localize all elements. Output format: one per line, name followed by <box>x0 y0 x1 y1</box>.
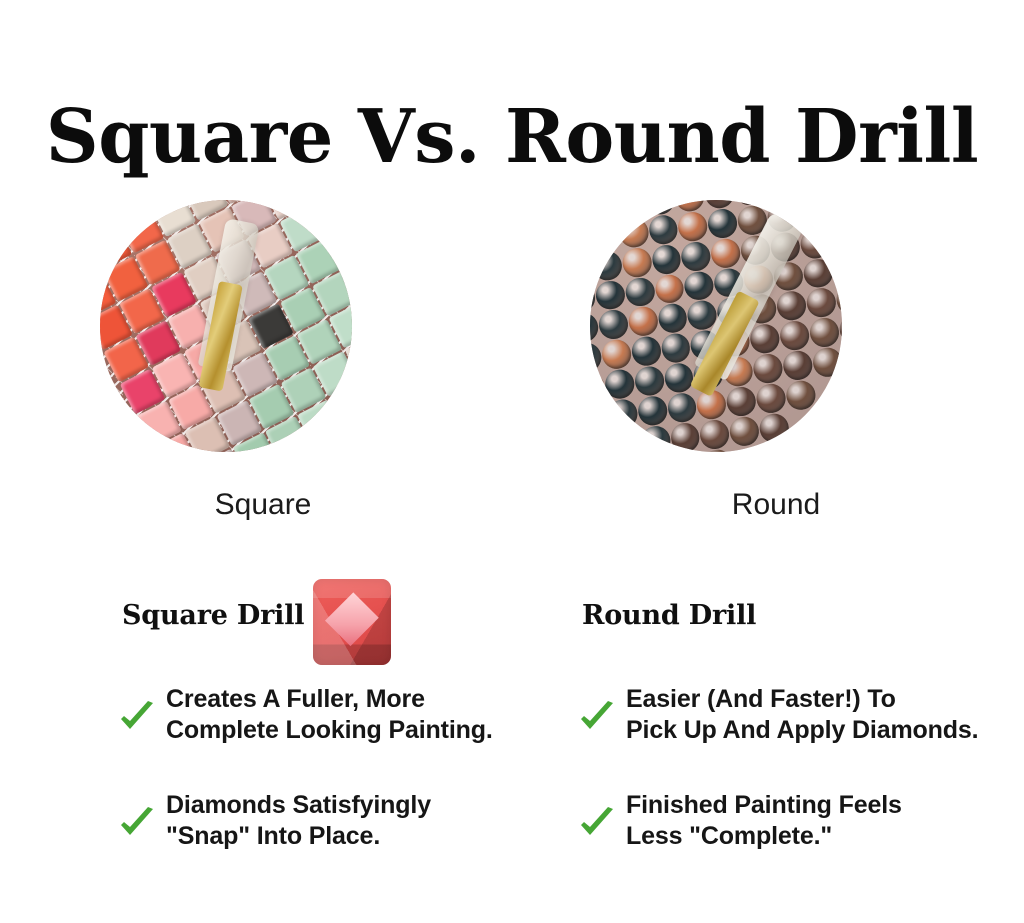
square-gem-swatch <box>313 579 391 665</box>
comparison-section: Square Drill Creates A Fuller, More Comp… <box>0 600 1024 900</box>
check-icon <box>118 804 156 842</box>
list-item-text: Easier (And Faster!) To Pick Up And Appl… <box>626 684 978 746</box>
list-item: Finished Painting Feels Less "Complete." <box>578 790 1024 852</box>
list-item-text: Finished Painting Feels Less "Complete." <box>626 790 902 852</box>
square-photo-caption: Square <box>0 487 512 523</box>
square-photo-column <box>0 196 512 496</box>
list-item: Easier (And Faster!) To Pick Up And Appl… <box>578 684 1024 746</box>
square-drill-photo <box>100 200 352 452</box>
round-photo-column <box>512 196 1024 496</box>
check-icon <box>578 698 616 736</box>
round-drill-column: Round Drill Easier (And Faster!) To Pick… <box>578 600 1024 896</box>
photo-comparison-row <box>0 196 1024 496</box>
round-drill-photo <box>590 200 842 452</box>
round-drill-heading: Round Drill <box>582 600 1024 632</box>
round-photo-caption: Round <box>512 487 1024 523</box>
check-icon <box>578 804 616 842</box>
list-item-text: Creates A Fuller, More Complete Looking … <box>166 684 493 746</box>
list-item-text: Diamonds Satisfyingly "Snap" Into Place. <box>166 790 431 852</box>
check-icon <box>118 698 156 736</box>
list-item: Diamonds Satisfyingly "Snap" Into Place. <box>118 790 588 852</box>
list-item: Creates A Fuller, More Complete Looking … <box>118 684 588 746</box>
page-title: Square Vs. Round Drill <box>5 98 1019 176</box>
